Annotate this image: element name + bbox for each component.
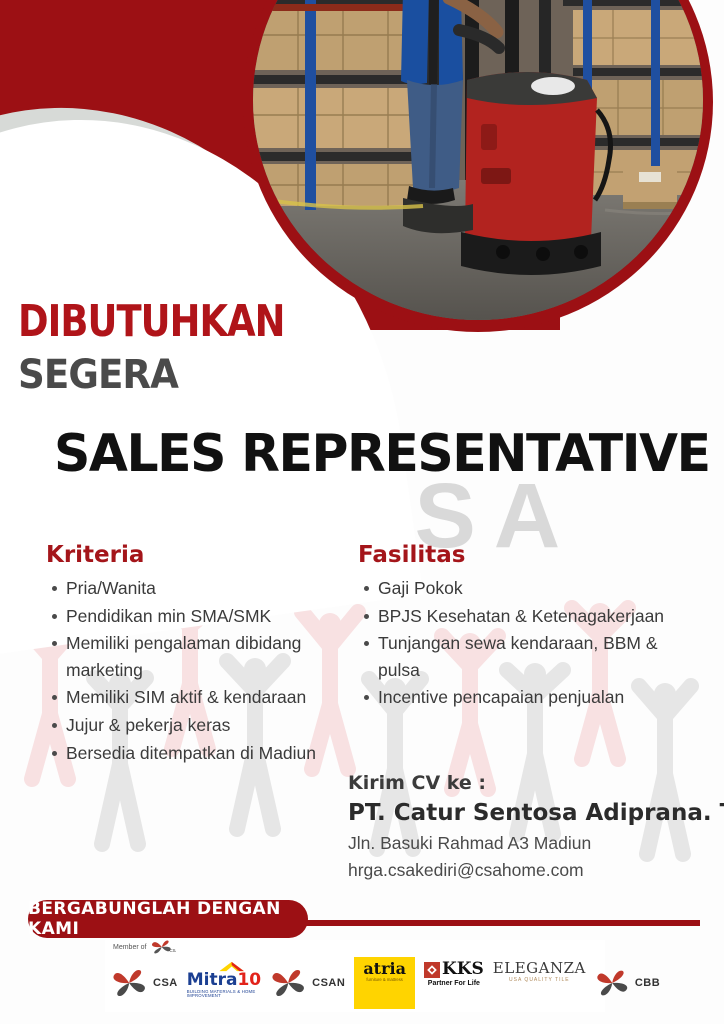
logo-kks: KKS Partner For Life <box>424 961 484 1005</box>
headline-segera: SEGERA <box>18 352 178 398</box>
company-name: PT. Catur Sentosa Adiprana. Tbk <box>348 800 688 826</box>
list-item: Incentive pencapaian penjualan <box>378 684 688 711</box>
join-us-banner-label: BERGABUNGLAH DENGAN KAMI <box>28 899 308 939</box>
logo-atria-label: atria <box>363 961 406 977</box>
logo-csan-label: CSAN <box>312 977 345 989</box>
list-item: Tunjangan sewa kendaraan, BBM & pulsa <box>378 630 688 683</box>
page-title: SALES REPRESENTATIVE <box>54 424 710 484</box>
list-item: Pendidikan min SMA/SMK <box>66 603 326 630</box>
list-item: Pria/Wanita <box>66 575 326 602</box>
criteria-heading: Kriteria <box>46 542 326 568</box>
list-item: Memiliki pengalaman dibidang marketing <box>66 630 326 683</box>
list-item: Memiliki SIM aktif & kendaraan <box>66 684 326 711</box>
logo-eleganza: ELEGANZA USA QUALITY TILE <box>493 961 586 1005</box>
logo-csa-label: CSA <box>153 977 178 989</box>
csa-pinwheel-icon <box>111 968 151 998</box>
logo-kks-label: KKS <box>442 961 484 978</box>
contact-email[interactable]: hrga.csakediri@csahome.com <box>348 857 688 884</box>
contact-section: Kirim CV ke : PT. Catur Sentosa Adiprana… <box>348 772 688 884</box>
logo-atria-tagline: furniture & mattress <box>366 978 403 982</box>
contact-lead: Kirim CV ke : <box>348 772 688 794</box>
member-of-badge: Member of CSA <box>113 940 176 954</box>
banner-rule <box>280 920 700 926</box>
facilities-section: Fasilitas Gaji Pokok BPJS Kesehatan & Ke… <box>358 542 688 712</box>
cbb-pinwheel-icon <box>595 969 633 997</box>
facilities-list: Gaji Pokok BPJS Kesehatan & Ketenagakerj… <box>358 575 688 711</box>
logo-mitra10-tagline: BUILDING MATERIALS & HOME IMPROVEMENT <box>187 990 261 999</box>
list-item: Jujur & pekerja keras <box>66 712 326 739</box>
logo-eleganza-label: ELEGANZA <box>493 961 586 976</box>
logo-mitra10-number: 10 <box>237 970 261 990</box>
logo-csa: CSA <box>111 961 178 1005</box>
logo-cbb: CBB <box>595 961 660 1005</box>
logo-kks-tagline: Partner For Life <box>428 980 480 987</box>
criteria-list: Pria/Wanita Pendidikan min SMA/SMK Memil… <box>46 575 326 766</box>
company-address: Jln. Basuki Rahmad A3 Madiun <box>348 830 688 857</box>
list-item: Gaji Pokok <box>378 575 688 602</box>
join-us-banner: BERGABUNGLAH DENGAN KAMI <box>28 900 308 938</box>
logo-row: CSA Mitra10 BUILDING MATERIALS & HOME IM… <box>105 956 605 1010</box>
csan-pinwheel-icon <box>270 968 310 998</box>
list-item: Bersedia ditempatkan di Madiun <box>66 740 326 767</box>
logo-cbb-label: CBB <box>635 977 660 989</box>
logo-eleganza-tagline: USA QUALITY TILE <box>509 978 570 983</box>
member-of-label: Member of <box>113 944 146 951</box>
logo-atria: atria furniture & mattress <box>354 957 415 1009</box>
svg-text:CSA: CSA <box>170 948 177 953</box>
csa-pinwheel-icon: CSA <box>150 940 176 954</box>
facilities-heading: Fasilitas <box>358 542 688 568</box>
criteria-section: Kriteria Pria/Wanita Pendidikan min SMA/… <box>46 542 326 767</box>
job-poster: CSA <box>0 0 724 1024</box>
headline-dibutuhkan: DIBUTUHKAN <box>18 296 285 347</box>
kks-diamond-icon <box>424 962 440 978</box>
list-item: BPJS Kesehatan & Ketenagakerjaan <box>378 603 688 630</box>
logo-mitra10-word: Mitra <box>187 970 238 990</box>
logo-csan: CSAN <box>270 961 345 1005</box>
partner-logo-strip: Member of CSA CSA <box>105 940 605 1012</box>
logo-mitra10: Mitra10 BUILDING MATERIALS & HOME IMPROV… <box>187 961 261 1005</box>
